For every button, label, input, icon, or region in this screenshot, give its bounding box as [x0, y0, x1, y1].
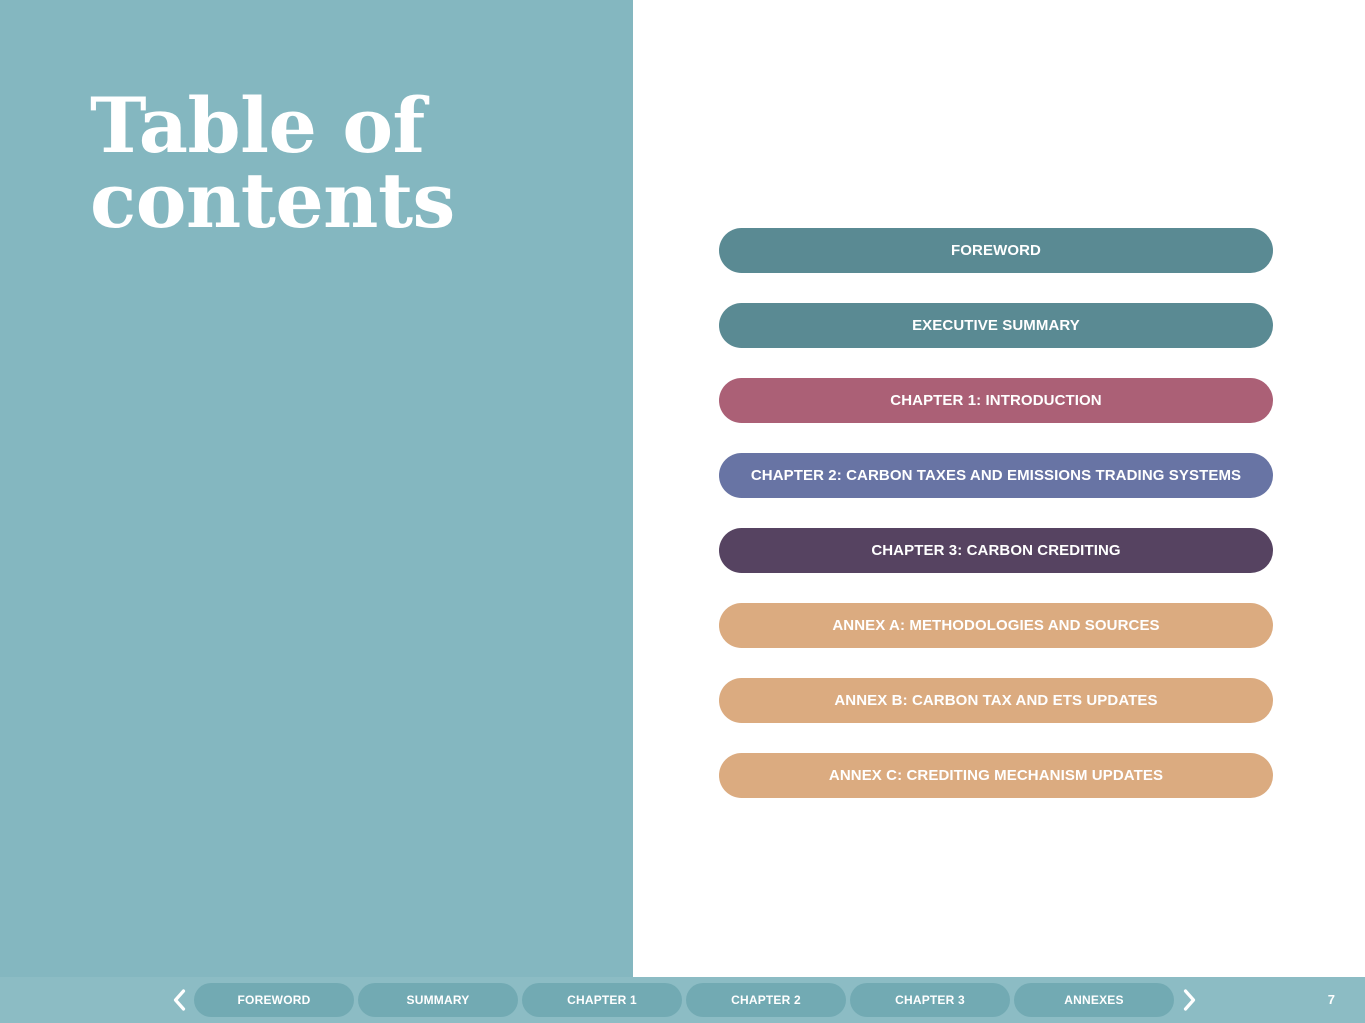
- nav-right-cap: 7: [1288, 977, 1365, 1023]
- toc-item[interactable]: FOREWORD: [719, 228, 1273, 273]
- nav-tab-label: ANNEXES: [1064, 993, 1123, 1007]
- toc-list: FOREWORDEXECUTIVE SUMMARYCHAPTER 1: INTR…: [719, 228, 1273, 798]
- toc-item-label: FOREWORD: [951, 242, 1041, 259]
- toc-item-label: ANNEX A: METHODOLOGIES AND SOURCES: [832, 617, 1159, 634]
- nav-tab-label: CHAPTER 1: [567, 993, 637, 1007]
- toc-item[interactable]: EXECUTIVE SUMMARY: [719, 303, 1273, 348]
- nav-tab[interactable]: CHAPTER 1: [522, 983, 682, 1017]
- toc-item-label: CHAPTER 3: CARBON CREDITING: [871, 542, 1120, 559]
- toc-item-label: CHAPTER 2: CARBON TAXES AND EMISSIONS TR…: [751, 467, 1241, 484]
- title-panel: Table of contents: [0, 0, 633, 977]
- toc-item[interactable]: CHAPTER 1: INTRODUCTION: [719, 378, 1273, 423]
- nav-tab-label: CHAPTER 2: [731, 993, 801, 1007]
- toc-item[interactable]: CHAPTER 2: CARBON TAXES AND EMISSIONS TR…: [719, 453, 1273, 498]
- chevron-right-icon: [1182, 989, 1196, 1011]
- chevron-left-icon: [172, 989, 186, 1011]
- toc-item-label: ANNEX B: CARBON TAX AND ETS UPDATES: [834, 692, 1157, 709]
- nav-tab[interactable]: CHAPTER 3: [850, 983, 1010, 1017]
- toc-item-label: CHAPTER 1: INTRODUCTION: [890, 392, 1101, 409]
- toc-page: Table of contents FOREWORDEXECUTIVE SUMM…: [0, 0, 1365, 1023]
- toc-item[interactable]: ANNEX C: CREDITING MECHANISM UPDATES: [719, 753, 1273, 798]
- page-title: Table of contents: [90, 88, 610, 238]
- page-number: 7: [1328, 977, 1335, 1023]
- toc-item[interactable]: ANNEX B: CARBON TAX AND ETS UPDATES: [719, 678, 1273, 723]
- nav-tab[interactable]: ANNEXES: [1014, 983, 1174, 1017]
- bottom-navigation-bar: FOREWORDSUMMARYCHAPTER 1CHAPTER 2CHAPTER…: [0, 977, 1365, 1023]
- toc-item[interactable]: ANNEX A: METHODOLOGIES AND SOURCES: [719, 603, 1273, 648]
- nav-tab[interactable]: FOREWORD: [194, 983, 354, 1017]
- toc-item-label: ANNEX C: CREDITING MECHANISM UPDATES: [829, 767, 1163, 784]
- next-page-button[interactable]: [1176, 977, 1202, 1023]
- nav-tab[interactable]: CHAPTER 2: [686, 983, 846, 1017]
- prev-page-button[interactable]: [166, 977, 192, 1023]
- nav-tab-list: FOREWORDSUMMARYCHAPTER 1CHAPTER 2CHAPTER…: [194, 983, 1174, 1017]
- nav-tab[interactable]: SUMMARY: [358, 983, 518, 1017]
- content-panel: FOREWORDEXECUTIVE SUMMARYCHAPTER 1: INTR…: [633, 0, 1365, 977]
- toc-item-label: EXECUTIVE SUMMARY: [912, 317, 1080, 334]
- nav-tab-label: FOREWORD: [238, 993, 311, 1007]
- toc-item[interactable]: CHAPTER 3: CARBON CREDITING: [719, 528, 1273, 573]
- nav-tab-label: SUMMARY: [407, 993, 470, 1007]
- nav-tab-label: CHAPTER 3: [895, 993, 965, 1007]
